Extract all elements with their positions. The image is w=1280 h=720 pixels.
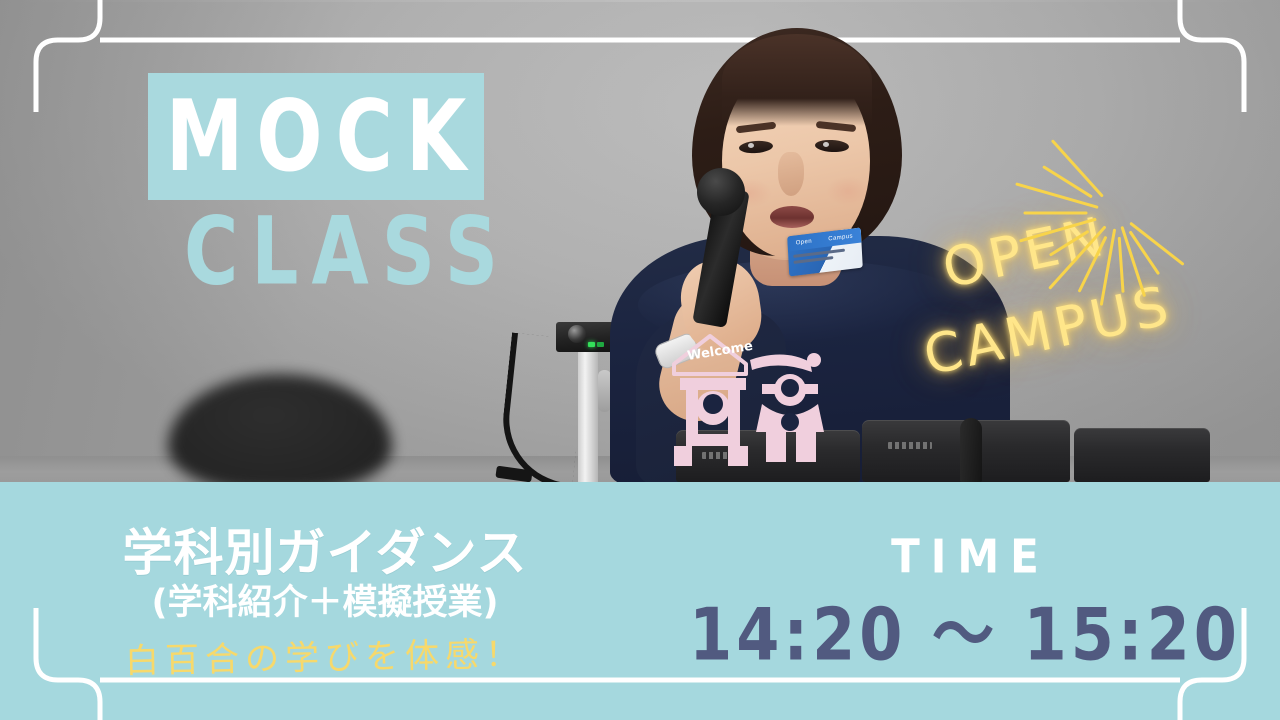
name-badge-brand: Open (796, 238, 812, 246)
info-banner: 学科別ガイダンス (学科紹介＋模擬授業) 白百合の学びを体感！ TIME 14:… (0, 482, 1280, 720)
tripod-pole (578, 344, 598, 482)
laptop-logo-2 (888, 442, 932, 449)
camera-lens-icon (568, 325, 586, 343)
guidance-heading: 学科別ガイダンス (123, 527, 528, 580)
guidance-subheading: (学科紹介＋模擬授業) (152, 584, 499, 623)
neon-open-campus-sign: OPEN CAMPUS (930, 195, 1220, 410)
sunburst-rays-icon (1116, 213, 1120, 217)
banner-left-column: 学科別ガイダンス (学科紹介＋模擬授業) 白百合の学びを体感！ (0, 482, 650, 720)
laptop-lid-right (1074, 428, 1210, 482)
time-value: 14:20 ～ 15:20 (689, 599, 1241, 671)
tshirt-print: Welcome (666, 330, 846, 470)
name-badge-text-lines (793, 249, 845, 267)
banner-right-column: TIME 14:20 ～ 15:20 (650, 482, 1280, 720)
hair-fringe (722, 34, 872, 126)
desk-microphone (960, 418, 982, 482)
photo-background: Welcome (0, 0, 1280, 482)
poster-canvas: Welcome (0, 0, 1280, 720)
mouth (770, 206, 814, 228)
handwritten-tagline: 白百合の学びを体感！ (125, 627, 526, 683)
camera-led-indicator (588, 342, 595, 347)
nose (778, 152, 804, 196)
cheek-right (826, 176, 870, 206)
mock-title-text: MOCK (153, 87, 480, 185)
time-label: TIME (880, 534, 1050, 580)
eye-highlight-left (748, 143, 754, 148)
sunburst-ray-10 (1024, 212, 1088, 215)
neon-open-text: OPEN (937, 204, 1112, 300)
eye-highlight-right (823, 142, 829, 147)
wall-seam-line (0, 0, 1280, 2)
mock-title-box: MOCK (148, 73, 484, 200)
name-badge-event: Campus (828, 233, 853, 242)
class-subtitle-text: CLASS (184, 205, 511, 298)
